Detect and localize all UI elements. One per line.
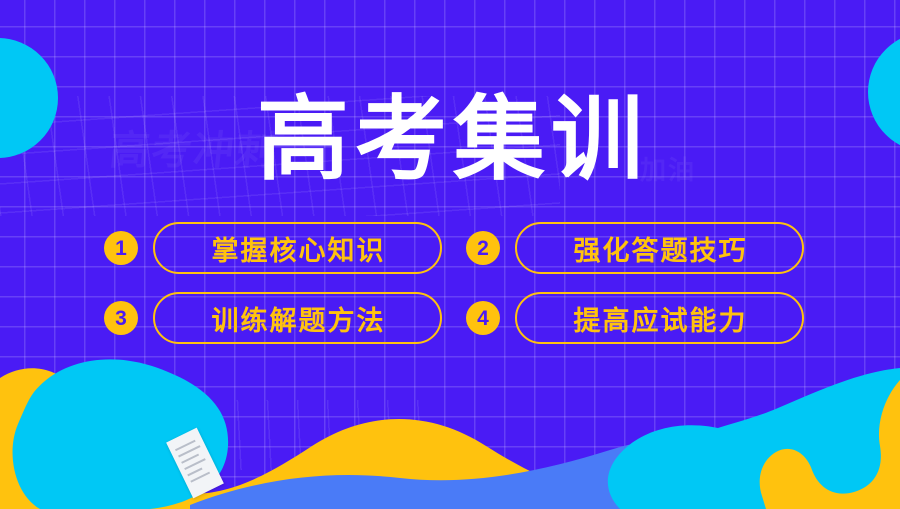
feature-number-badge-2: 2 xyxy=(466,231,500,265)
feature-number-badge-3: 3 xyxy=(104,301,138,335)
feature-item-1[interactable]: 1 掌握核心知识 xyxy=(104,222,442,274)
feature-number-badge-1: 1 xyxy=(104,231,138,265)
feature-number-badge-4: 4 xyxy=(466,301,500,335)
feature-item-3[interactable]: 3 训练解题方法 xyxy=(104,292,442,344)
feature-label-pill-2[interactable]: 强化答题技巧 xyxy=(515,222,804,274)
promo-banner: 高考冲刺 加油 高考集训 1 掌握核心知识 2 xyxy=(0,0,900,509)
feature-label-pill-4[interactable]: 提高应试能力 xyxy=(515,292,804,344)
feature-item-4[interactable]: 4 提高应试能力 xyxy=(466,292,804,344)
feature-item-2[interactable]: 2 强化答题技巧 xyxy=(466,222,804,274)
page-title: 高考集训 xyxy=(0,92,900,189)
feature-list: 1 掌握核心知识 2 强化答题技巧 3 训练解题方法 4 提高应试能力 xyxy=(104,222,804,344)
feature-label-pill-1[interactable]: 掌握核心知识 xyxy=(153,222,442,274)
feature-label-pill-3[interactable]: 训练解题方法 xyxy=(153,292,442,344)
